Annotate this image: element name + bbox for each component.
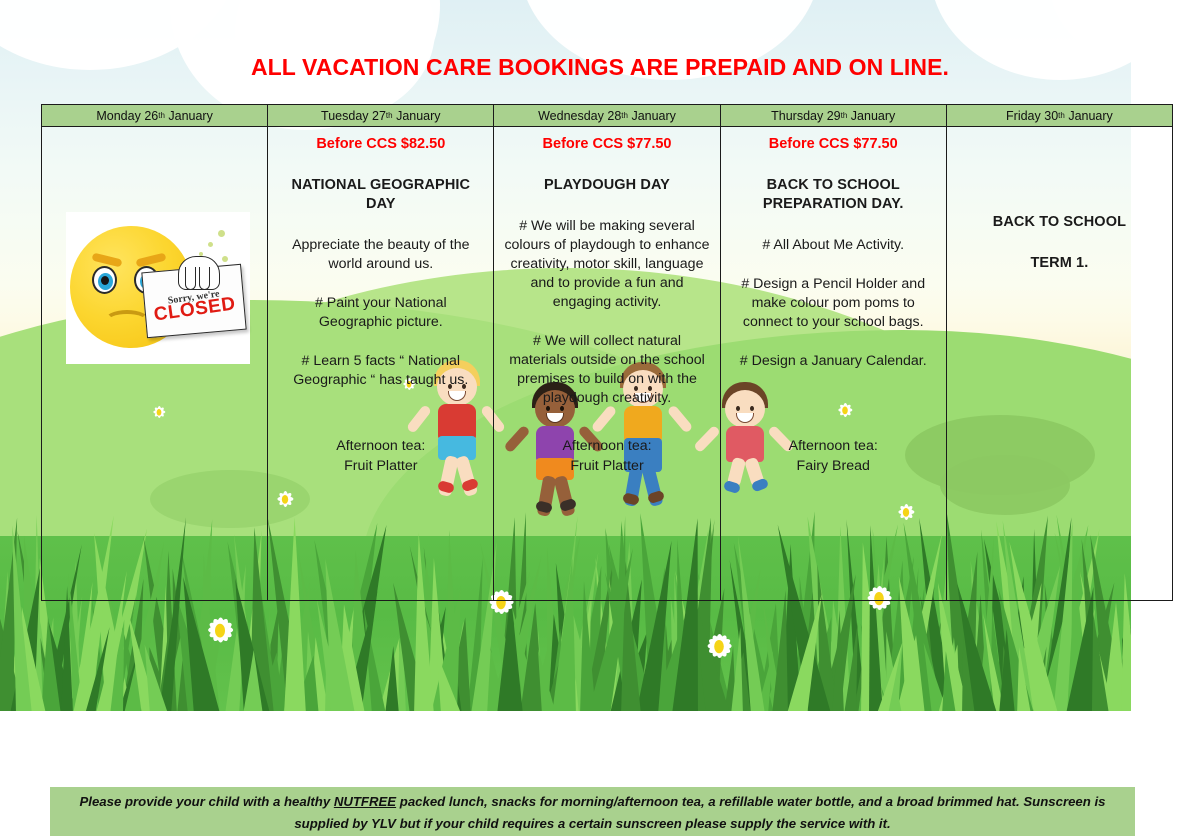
- eyebrow-left: [91, 252, 122, 267]
- sorry-closed-icon: Sorry, we're CLOSED: [66, 212, 250, 364]
- table-body-row: Sorry, we're CLOSED Before CCS $82.50 NA…: [42, 127, 1172, 600]
- afternoon-tea-label: Afternoon tea:: [278, 436, 483, 456]
- activity-title: PLAYDOUGH DAY: [504, 176, 709, 195]
- frown-mouth: [104, 310, 150, 332]
- header-day: Friday: [1006, 109, 1041, 123]
- table-header-row: Monday 26th January Tuesday 27th January…: [42, 105, 1172, 127]
- cell-monday: Sorry, we're CLOSED: [42, 127, 268, 600]
- grass-blade: [999, 629, 1015, 711]
- eye-left: [92, 266, 117, 294]
- hand-icon: [178, 256, 220, 290]
- daisy-icon: [703, 630, 734, 661]
- afternoon-tea-label: Afternoon tea:: [731, 436, 936, 456]
- header-ordinal: th: [1058, 111, 1065, 120]
- cell-friday: BACK TO SCHOOL TERM 1.: [947, 127, 1172, 600]
- activity-line: Appreciate the beauty of the world aroun…: [278, 236, 483, 274]
- friday-line-1: BACK TO SCHOOL: [957, 213, 1162, 232]
- header-date: 26: [144, 109, 158, 123]
- weekly-program-table: Monday 26th January Tuesday 27th January…: [41, 104, 1173, 601]
- header-ordinal: th: [158, 111, 165, 120]
- page-title: ALL VACATION CARE BOOKINGS ARE PREPAID A…: [0, 54, 1200, 81]
- header-day: Tuesday: [321, 109, 368, 123]
- activity-line: # We will be making several colours of p…: [504, 217, 709, 312]
- activity-line: # Learn 5 facts “ National Geographic “ …: [278, 352, 483, 390]
- header-date: 29: [827, 109, 841, 123]
- header-ordinal: th: [621, 111, 628, 120]
- header-month: January: [631, 109, 675, 123]
- header-month: January: [1068, 109, 1112, 123]
- activity-title: BACK TO SCHOOL PREPARATION DAY.: [731, 176, 936, 214]
- afternoon-tea-value: Fairy Bread: [731, 456, 936, 476]
- friday-note: BACK TO SCHOOL TERM 1.: [957, 213, 1162, 273]
- grass-blade: [385, 646, 400, 711]
- cell-thursday: Before CCS $77.50 BACK TO SCHOOL PREPARA…: [721, 127, 947, 600]
- header-day: Wednesday: [538, 109, 604, 123]
- price-label: Before CCS $82.50: [278, 135, 483, 154]
- footer-note: Please provide your child with a healthy…: [50, 787, 1135, 836]
- afternoon-tea-block: Afternoon tea: Fruit Platter: [278, 436, 483, 476]
- activity-line: # Paint your National Geographic picture…: [278, 294, 483, 332]
- activity-title: NATIONAL GEOGRAPHIC DAY: [278, 176, 483, 214]
- header-day: Thursday: [771, 109, 823, 123]
- afternoon-tea-value: Fruit Platter: [504, 456, 709, 476]
- activity-line: # All About Me Activity.: [731, 236, 936, 255]
- afternoon-tea-label: Afternoon tea:: [504, 436, 709, 456]
- afternoon-tea-block: Afternoon tea: Fairy Bread: [731, 436, 936, 476]
- column-header-tuesday: Tuesday 27th January: [268, 105, 494, 127]
- grass-blade: [243, 650, 264, 711]
- grass-blade: [832, 610, 846, 711]
- footer-emphasis: NUTFREE: [334, 794, 396, 809]
- activity-line: # Design a January Calendar.: [731, 352, 936, 371]
- price-label: Before CCS $77.50: [504, 135, 709, 154]
- header-date: 30: [1044, 109, 1058, 123]
- eyebrow-right: [135, 252, 166, 267]
- cell-wednesday: Before CCS $77.50 PLAYDOUGH DAY # We wil…: [494, 127, 720, 600]
- afternoon-tea-block: Afternoon tea: Fruit Platter: [504, 436, 709, 476]
- friday-line-2: TERM 1.: [957, 254, 1162, 273]
- price-label: Before CCS $77.50: [731, 135, 936, 154]
- activity-line: # We will collect natural materials outs…: [504, 332, 709, 408]
- column-header-monday: Monday 26th January: [42, 105, 268, 127]
- header-date: 27: [372, 109, 386, 123]
- afternoon-tea-value: Fruit Platter: [278, 456, 483, 476]
- column-header-wednesday: Wednesday 28th January: [494, 105, 720, 127]
- header-ordinal: th: [841, 111, 848, 120]
- cell-tuesday: Before CCS $82.50 NATIONAL GEOGRAPHIC DA…: [268, 127, 494, 600]
- footer-text-before: Please provide your child with a healthy: [80, 794, 334, 809]
- header-month: January: [396, 109, 440, 123]
- column-header-friday: Friday 30th January: [947, 105, 1172, 127]
- header-month: January: [851, 109, 895, 123]
- daisy-icon: [204, 614, 237, 647]
- column-header-thursday: Thursday 29th January: [721, 105, 947, 127]
- vacation-care-program-page: ALL VACATION CARE BOOKINGS ARE PREPAID A…: [0, 0, 1200, 836]
- footer-text-after: packed lunch, snacks for morning/afterno…: [294, 794, 1105, 831]
- header-day: Monday: [96, 109, 140, 123]
- header-date: 28: [607, 109, 621, 123]
- header-ordinal: th: [386, 111, 393, 120]
- activity-line: # Design a Pencil Holder and make colour…: [731, 275, 936, 332]
- header-month: January: [168, 109, 212, 123]
